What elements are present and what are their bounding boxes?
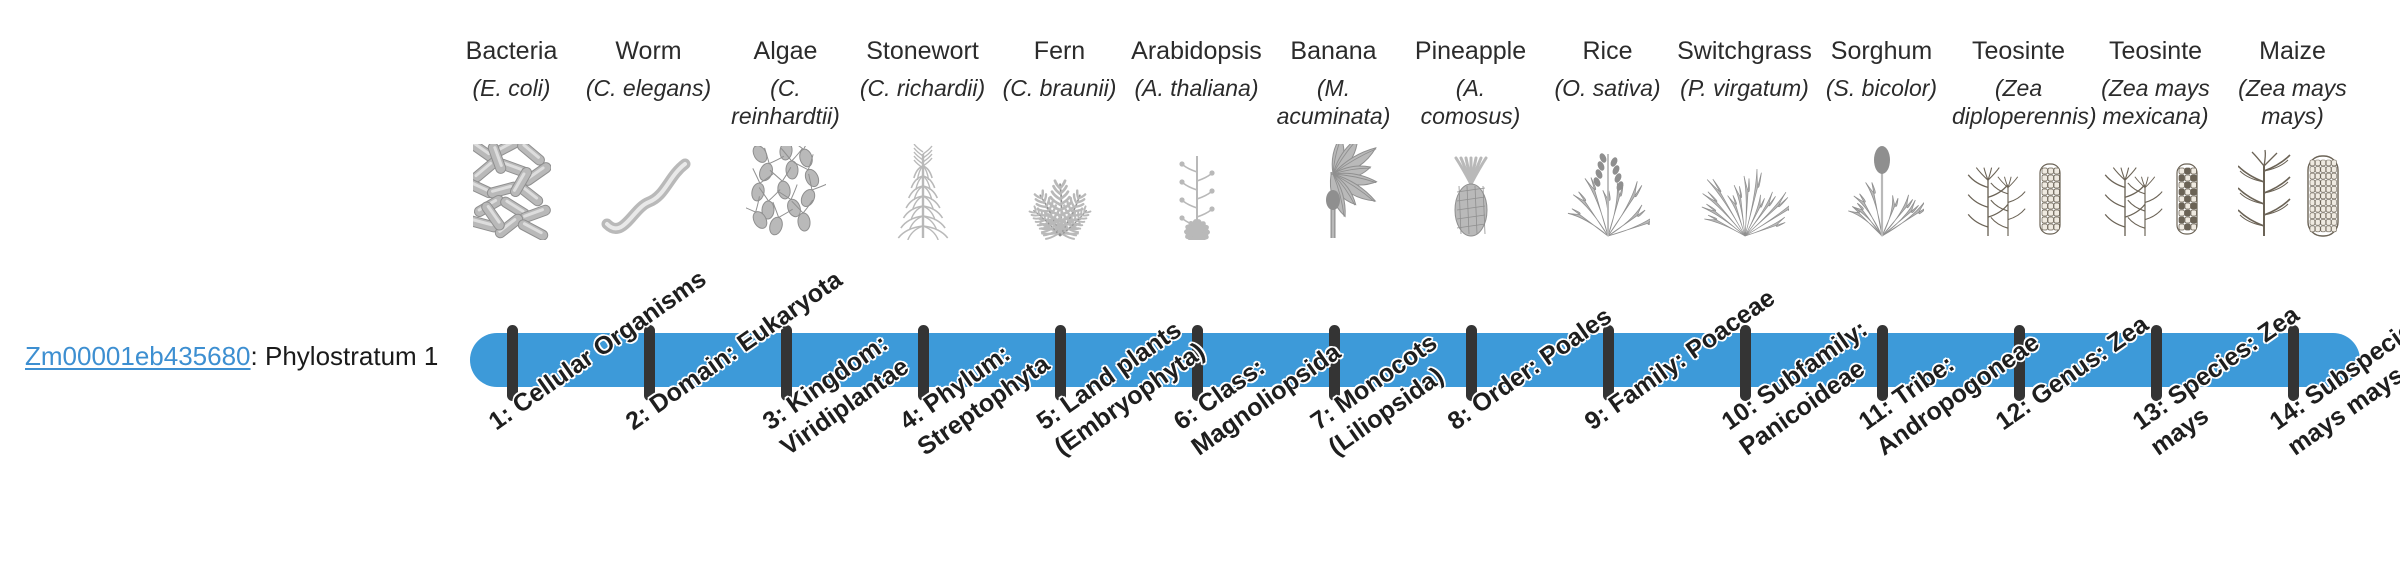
phylostratum-number: 1: bbox=[484, 400, 518, 436]
phylostratum-number: 12: bbox=[1991, 392, 2037, 436]
phylostratum-number: 9: bbox=[1580, 400, 1614, 436]
timeline-layer: 1: Cellular Organisms2: Domain: Eukaryot… bbox=[0, 0, 2400, 580]
phylostratum-number: 8: bbox=[1443, 400, 1477, 436]
phylostratigraphy-figure: Zm00001eb435680: Phylostratum 1 Bacteria… bbox=[0, 0, 2400, 580]
phylostratum-number: 2: bbox=[621, 400, 655, 436]
